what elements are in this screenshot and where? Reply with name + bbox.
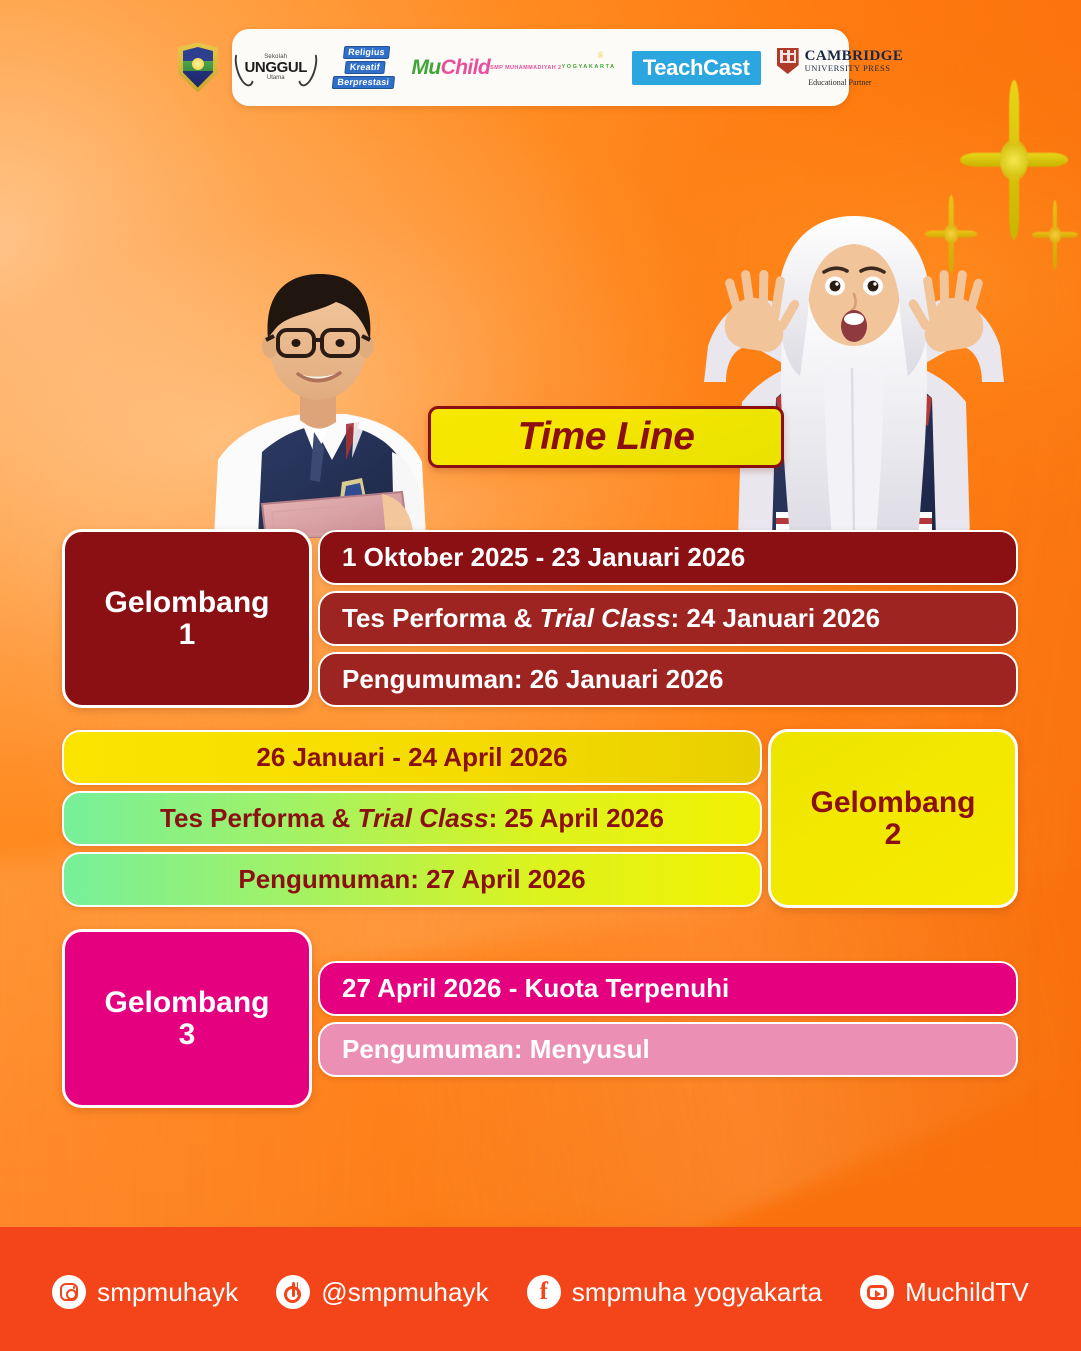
wave-1-label: Gelombang1 xyxy=(62,529,312,708)
teachcast-label: TeachCast xyxy=(632,51,761,85)
wave-3-label-text: Gelombang3 xyxy=(104,987,269,1050)
muchild-mu: Mu xyxy=(412,56,441,79)
wave-2-row-2-text: Tes Performa & Trial Class: 25 April 202… xyxy=(160,803,664,834)
table-row[interactable]: Pengumuman: 26 Januari 2026 xyxy=(318,652,1018,707)
wave-2-label-text: Gelombang2 xyxy=(810,787,975,850)
muchild-child: Child xyxy=(441,56,491,79)
teachcast-logo: TeachCast xyxy=(632,51,761,85)
wave-2-label: Gelombang2 xyxy=(768,729,1018,908)
wave-2-row-3-text: Pengumuman: 27 April 2026 xyxy=(238,864,585,895)
instagram-handle: smpmuhayk xyxy=(97,1277,238,1308)
table-row[interactable]: Tes Performa & Trial Class: 24 Januari 2… xyxy=(318,591,1018,646)
wave-2-rows: 26 Januari - 24 April 2026 Tes Performa … xyxy=(62,729,762,908)
youtube-icon xyxy=(860,1275,894,1309)
muchild-logo: ♕ MuChild SMP MUHAMMADIYAH 2 YOGYAKARTA xyxy=(412,57,616,78)
facebook-icon: f xyxy=(527,1275,561,1309)
cambridge-university-press-logo: CAMBRIDGE UNIVERSITY PRESS Educational P… xyxy=(777,48,904,87)
social-facebook[interactable]: f smpmuha yogyakarta xyxy=(527,1275,822,1309)
table-row[interactable]: 27 April 2026 - Kuota Terpenuhi xyxy=(318,961,1018,1016)
wave-3-row-1-text: 27 April 2026 - Kuota Terpenuhi xyxy=(342,973,729,1004)
crown-icon: ♕ xyxy=(597,51,605,60)
wave-1-block: Gelombang1 1 Oktober 2025 - 23 Januari 2… xyxy=(62,529,1018,708)
wave-2-block: 26 Januari - 24 April 2026 Tes Performa … xyxy=(62,729,1018,908)
wave-1-label-text: Gelombang1 xyxy=(104,587,269,650)
table-row[interactable]: Pengumuman: 27 April 2026 xyxy=(62,852,762,907)
wave-2-row-1-text: 26 Januari - 24 April 2026 xyxy=(256,742,567,773)
cambridge-line-1: CAMBRIDGE xyxy=(805,49,904,65)
page-title-banner: Time Line xyxy=(428,406,784,468)
partner-logo-bar: Sekolah UNGGUL Utama Religius Kreatif Be… xyxy=(232,29,849,106)
wave-3-label: Gelombang3 xyxy=(62,929,312,1108)
wave-1-row-1-text: 1 Oktober 2025 - 23 Januari 2026 xyxy=(342,542,745,573)
cambridge-line-2: UNIVERSITY PRESS xyxy=(805,64,904,73)
instagram-icon xyxy=(52,1275,86,1309)
rkb-line-3: Berprestasi xyxy=(332,76,395,89)
social-instagram[interactable]: smpmuhayk xyxy=(52,1275,238,1309)
social-tiktok[interactable]: @smpmuhayk xyxy=(276,1275,489,1309)
cambridge-shield-icon xyxy=(777,48,799,74)
tiktok-icon xyxy=(276,1275,310,1309)
page-title: Time Line xyxy=(518,415,695,459)
religius-kreatif-berprestasi-logo: Religius Kreatif Berprestasi xyxy=(332,46,398,89)
rkb-line-2: Kreatif xyxy=(344,61,385,74)
sekolah-unggul-utama-logo: Sekolah UNGGUL Utama xyxy=(234,45,318,91)
rkb-line-1: Religius xyxy=(342,46,390,59)
social-youtube[interactable]: MuchildTV xyxy=(860,1275,1029,1309)
student-photo-female xyxy=(664,186,1044,538)
cambridge-line-3: Educational Partner xyxy=(808,78,871,87)
tiktok-handle: @smpmuhayk xyxy=(321,1277,489,1308)
student-photo-male xyxy=(196,246,434,538)
facebook-handle: smpmuha yogyakarta xyxy=(572,1277,822,1308)
wave-3-row-2-text: Pengumuman: Menyusul xyxy=(342,1034,650,1065)
table-row[interactable]: Pengumuman: Menyusul xyxy=(318,1022,1018,1077)
table-row[interactable]: Tes Performa & Trial Class: 25 April 202… xyxy=(62,791,762,846)
table-row[interactable]: 1 Oktober 2025 - 23 Januari 2026 xyxy=(318,530,1018,585)
wave-1-row-2-text: Tes Performa & Trial Class: 24 Januari 2… xyxy=(342,603,880,634)
smp-muhammadiyah-shield-logo xyxy=(178,43,218,93)
social-footer: smpmuhayk @smpmuhayk f smpmuha yogyakart… xyxy=(0,1227,1081,1351)
table-row[interactable]: 26 Januari - 24 April 2026 xyxy=(62,730,762,785)
wave-1-row-3-text: Pengumuman: 26 Januari 2026 xyxy=(342,664,723,695)
youtube-handle: MuchildTV xyxy=(905,1277,1029,1308)
muchild-subtitle-2: YOGYAKARTA xyxy=(562,65,616,71)
wave-1-rows: 1 Oktober 2025 - 23 Januari 2026 Tes Per… xyxy=(318,529,1018,708)
wave-3-rows: 27 April 2026 - Kuota Terpenuhi Pengumum… xyxy=(318,929,1018,1108)
wave-3-block: Gelombang3 27 April 2026 - Kuota Terpenu… xyxy=(62,929,1018,1108)
muchild-subtitle-1: SMP MUHAMMADIYAH 2 xyxy=(490,66,561,72)
